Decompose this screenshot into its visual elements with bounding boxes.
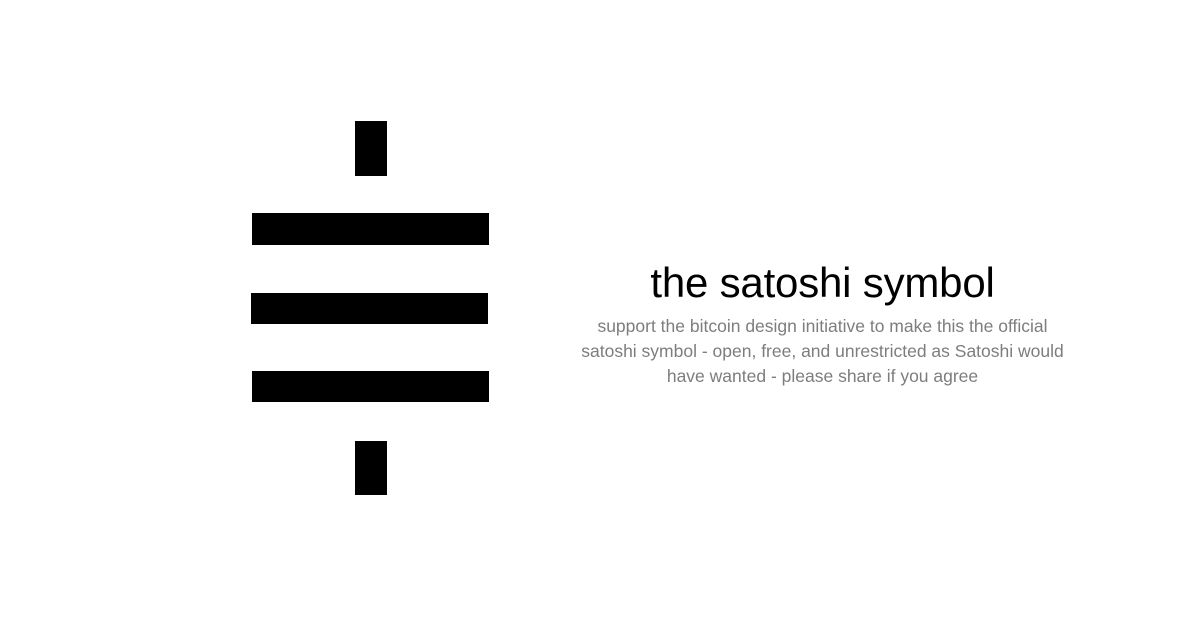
- page-canvas: the satoshi symbol support the bitcoin d…: [0, 0, 1200, 630]
- satoshi-symbol-bar-middle: [251, 293, 488, 324]
- page-subtitle-line-2: satoshi symbol - open, free, and unrestr…: [560, 339, 1085, 364]
- satoshi-symbol-stub-top: [355, 121, 387, 176]
- page-subtitle-line-1: support the bitcoin design initiative to…: [560, 314, 1085, 339]
- satoshi-symbol-bar-upper: [252, 213, 489, 245]
- page-subtitle: support the bitcoin design initiative to…: [560, 314, 1085, 389]
- page-subtitle-line-3: have wanted - please share if you agree: [560, 364, 1085, 389]
- page-title: the satoshi symbol: [560, 258, 1085, 308]
- satoshi-symbol-stub-bottom: [355, 441, 387, 495]
- satoshi-symbol-bar-lower: [252, 371, 489, 402]
- text-block: the satoshi symbol support the bitcoin d…: [560, 258, 1085, 389]
- satoshi-symbol: [251, 121, 489, 495]
